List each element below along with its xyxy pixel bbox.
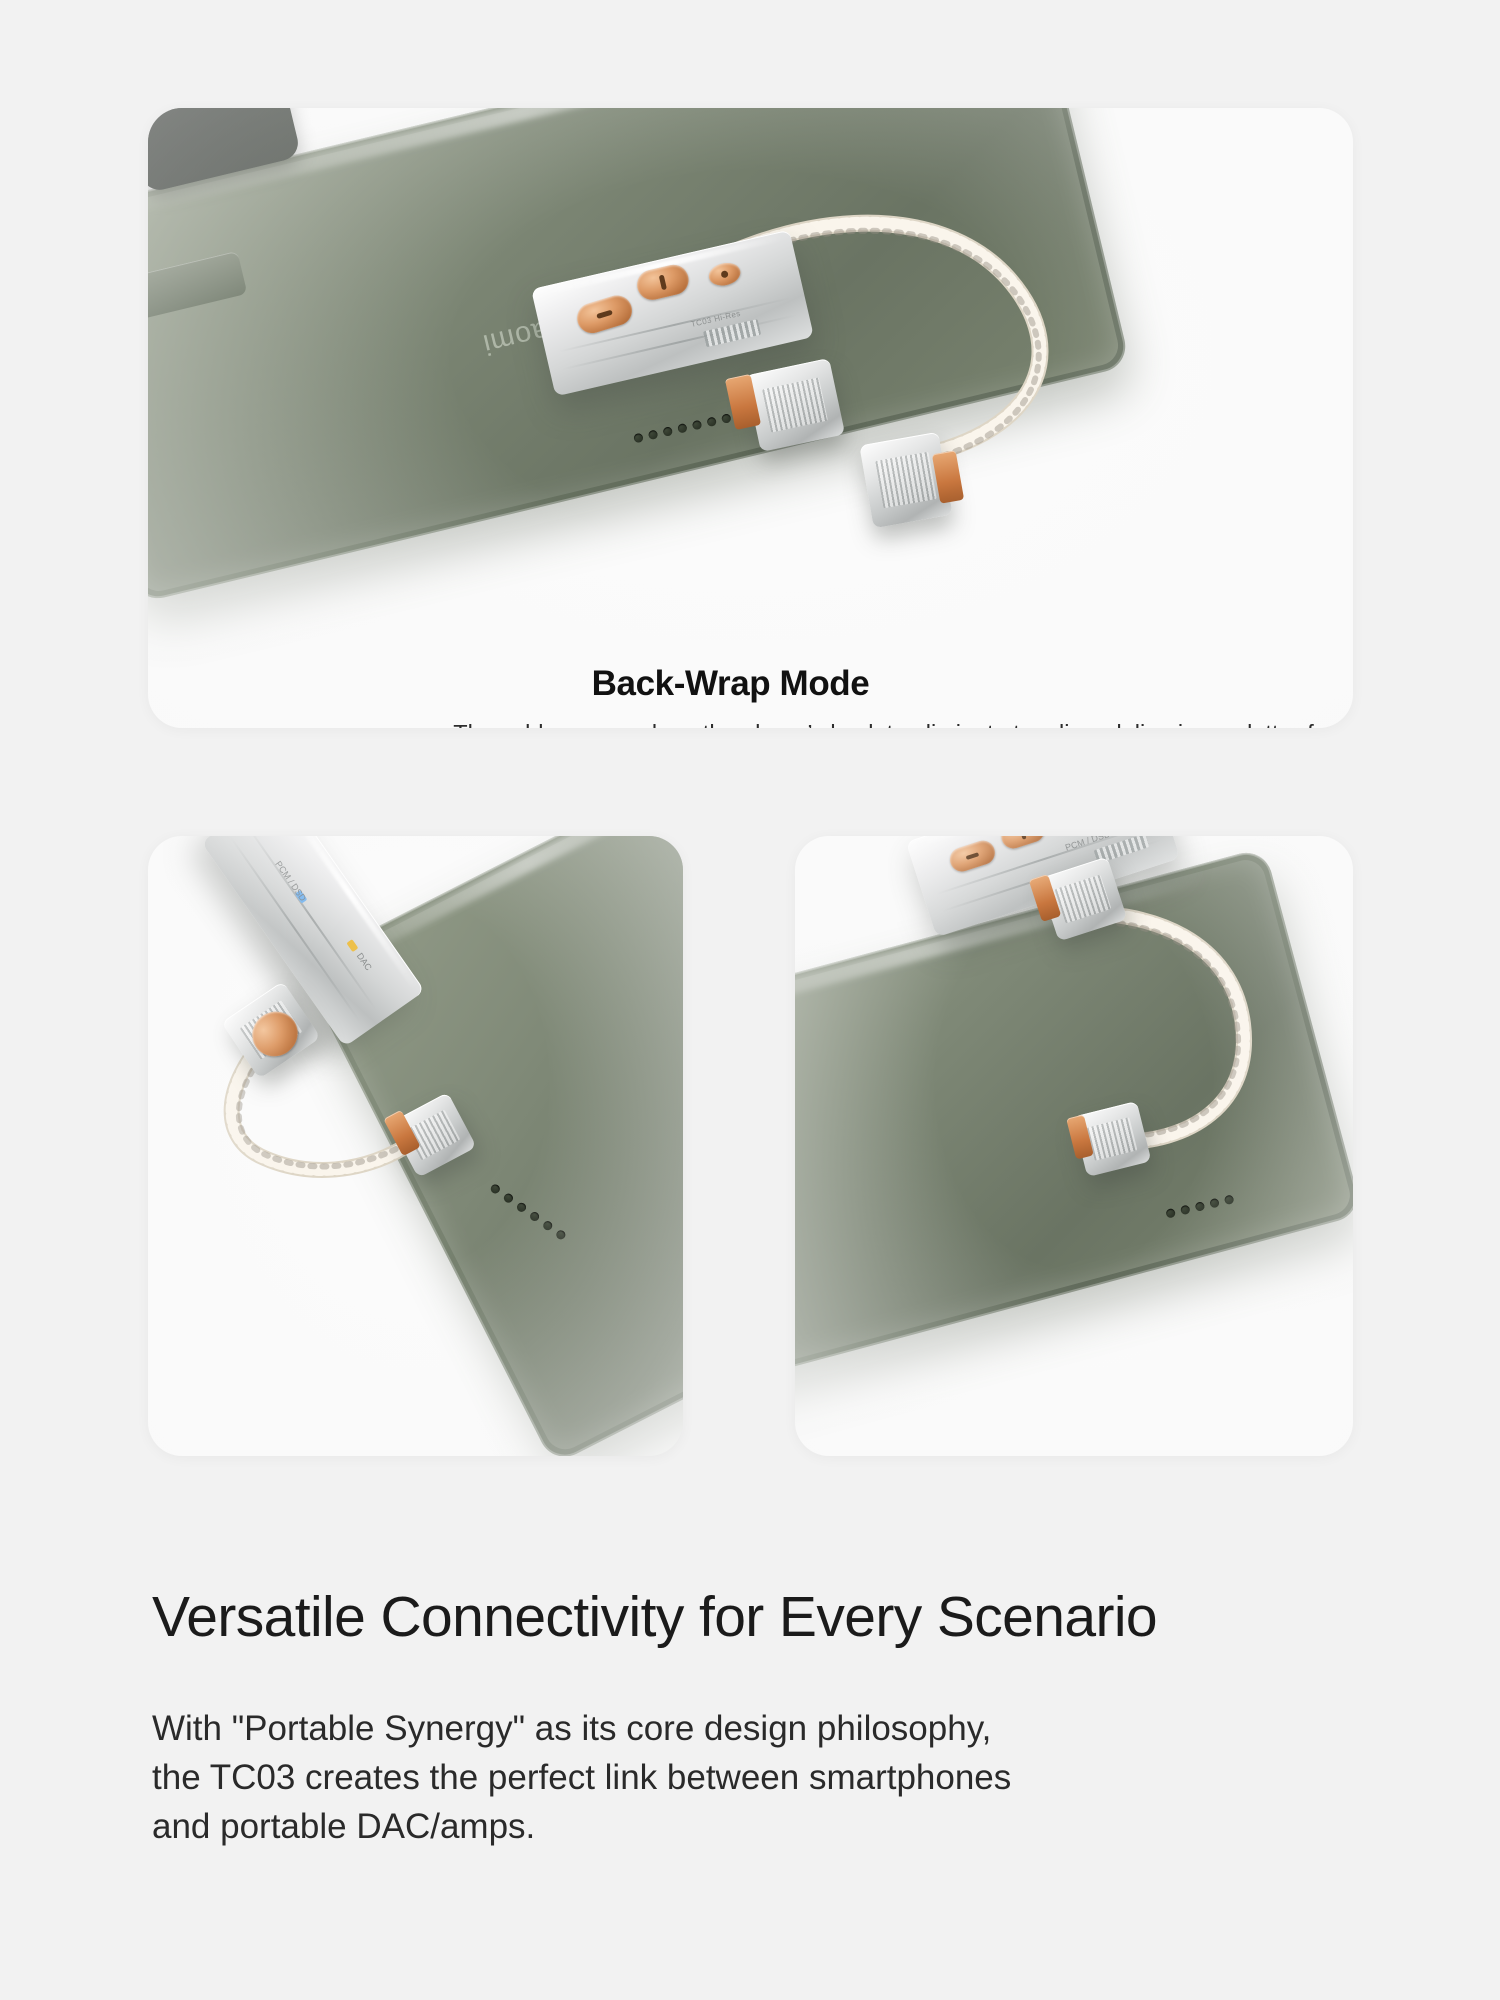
card-title-back-wrap: Back-Wrap Mode <box>148 664 1313 704</box>
photo-back-wrap: xiaomi <box>148 108 1353 728</box>
photo-side-by-side: PCM / DSD <box>795 836 1353 1456</box>
connector-ridges <box>762 378 828 433</box>
connector-ridges <box>875 452 937 508</box>
section-headline: Versatile Connectivity for Every Scenari… <box>152 1584 1157 1650</box>
connector-ridges <box>1086 1117 1138 1162</box>
paragraph-line: and portable DAC/amps. <box>152 1802 1332 1851</box>
body-line: The cable curves along the phone’s back … <box>453 720 1102 728</box>
card-back-wrap: xiaomi <box>148 108 1353 728</box>
photo-dangling: PCM / DSD DAC <box>148 836 683 1456</box>
card-side-by-side: PCM / DSD Side-by-Side Mode The angled p… <box>795 836 1353 1456</box>
product-feature-page: xiaomi <box>0 0 1500 2000</box>
connector-ridges <box>1054 874 1112 924</box>
section-paragraph: With "Portable Synergy" as its core desi… <box>152 1704 1332 1851</box>
paragraph-line: With "Portable Synergy" as its core desi… <box>152 1704 1332 1753</box>
paragraph-line: the TC03 creates the perfect link betwee… <box>152 1753 1332 1802</box>
card-body-back-wrap: The cable curves along the phone’s back … <box>448 718 1353 728</box>
card-dangling: PCM / DSD DAC Dangling Mode Plugs natura… <box>148 836 683 1456</box>
